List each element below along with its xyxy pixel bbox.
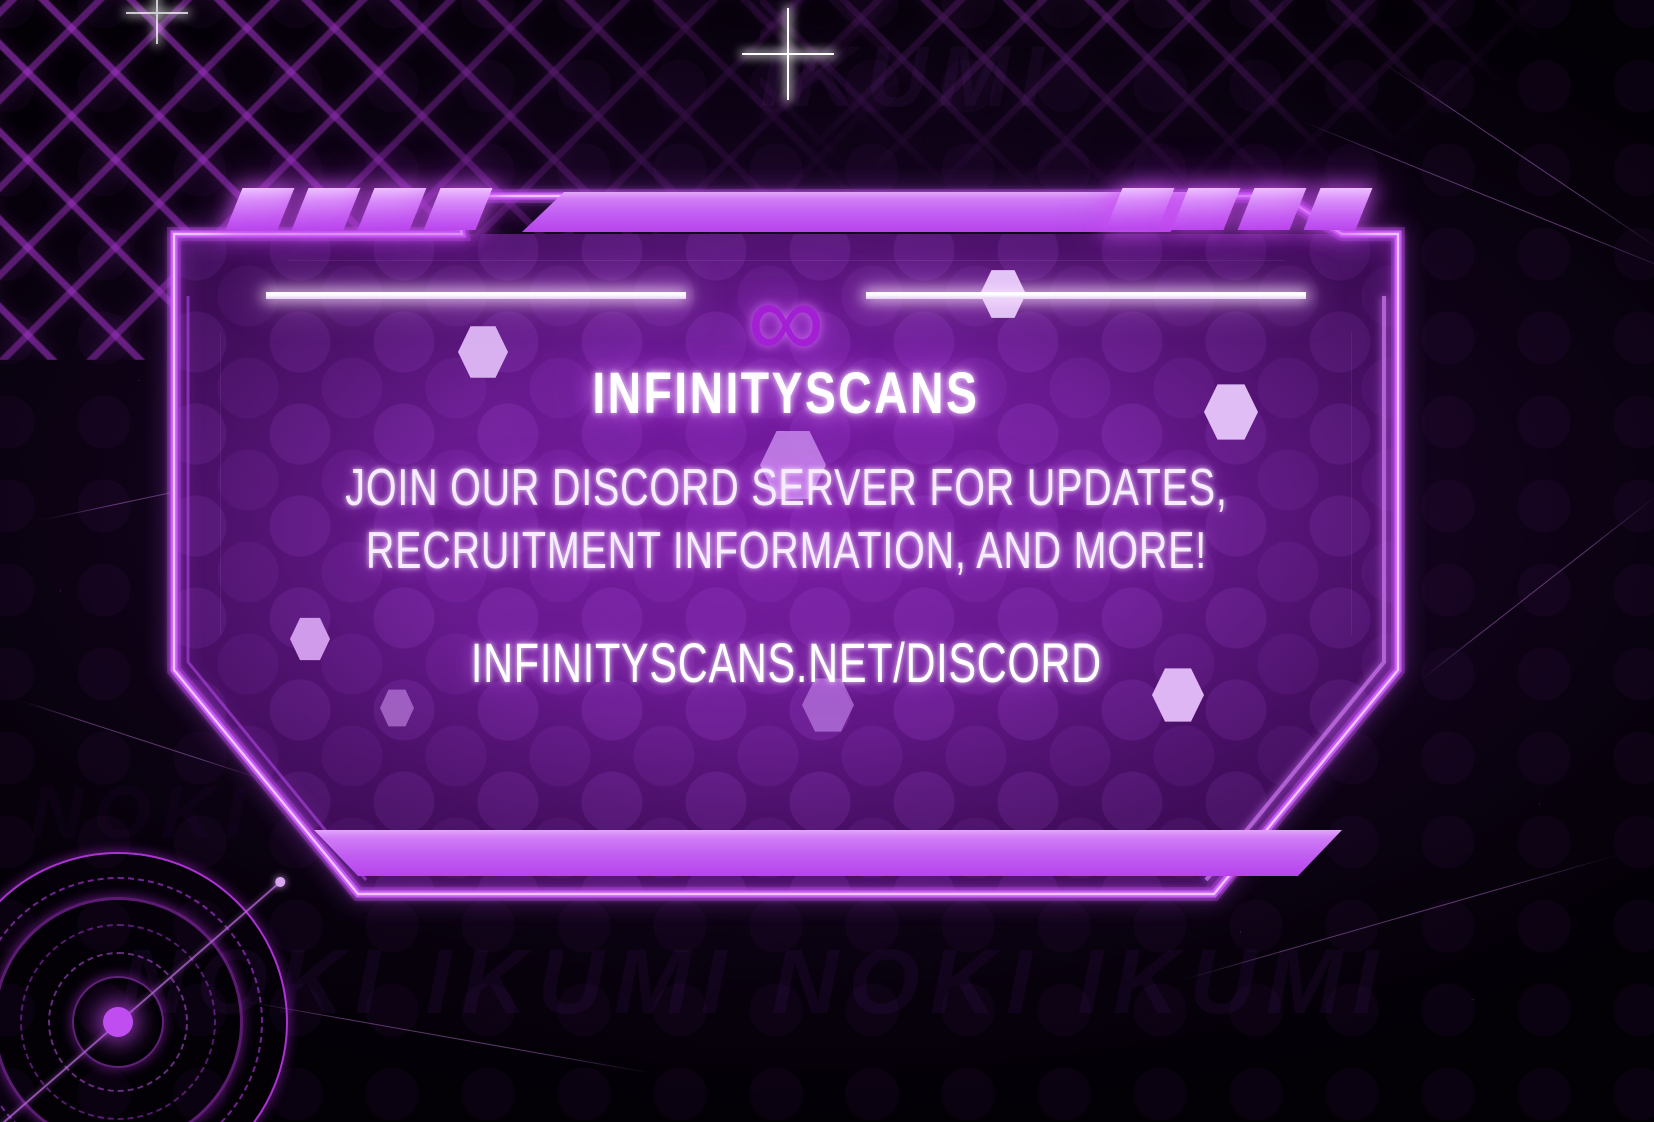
hash-marks-right (1114, 188, 1364, 230)
hash-mark (1304, 188, 1373, 230)
hash-marks-left (234, 188, 484, 230)
hud-panel: ∞ INFINITYSCANS Join our discord server … (162, 176, 1410, 906)
divider-left (266, 292, 686, 299)
hash-mark (424, 188, 493, 230)
tagline-line-1: Join our discord server for updates, (345, 457, 1227, 520)
discord-url[interactable]: infinityscans.net/discord (471, 630, 1102, 695)
hash-mark (226, 188, 295, 230)
divider-right (866, 292, 1306, 299)
hash-mark (1106, 188, 1175, 230)
logo-row: ∞ (174, 234, 1398, 354)
banner-canvas: IKUMI NOKI NOKI IKUMI NOKI IKUMI (0, 0, 1654, 1122)
panel-content: ∞ INFINITYSCANS Join our discord server … (174, 234, 1398, 894)
tagline: Join our discord server for updates, rec… (345, 457, 1227, 584)
hash-mark (358, 188, 427, 230)
hash-mark (292, 188, 361, 230)
hash-mark (1238, 188, 1307, 230)
infinity-icon: ∞ (748, 281, 825, 359)
hash-mark (1172, 188, 1241, 230)
tagline-line-2: recruitment information, and more! (345, 520, 1227, 583)
